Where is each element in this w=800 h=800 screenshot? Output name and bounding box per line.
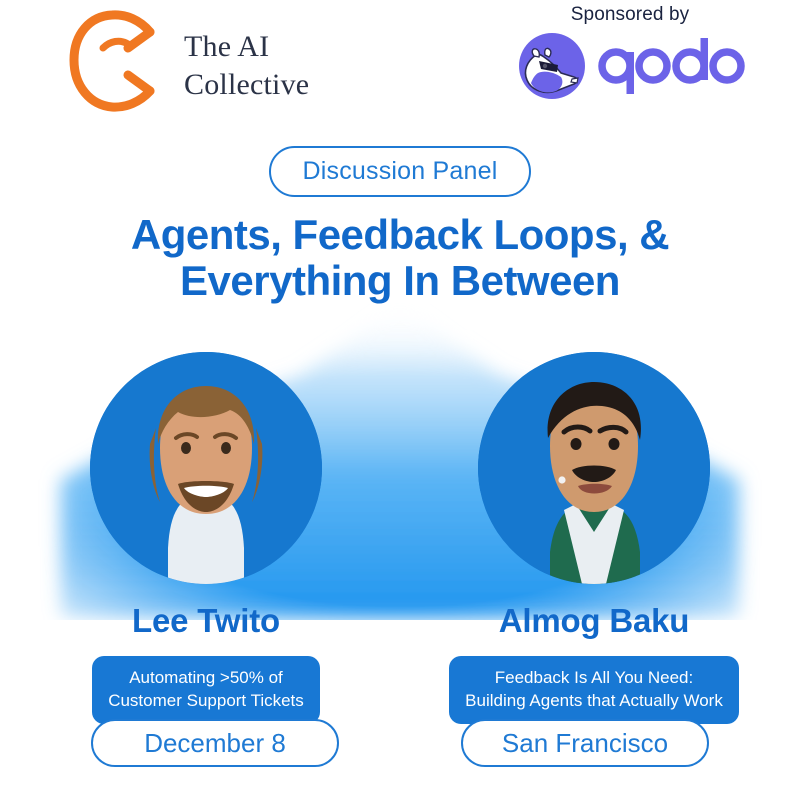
speaker-list: Lee Twito Automating >50% of Customer Su…: [0, 352, 800, 724]
speaker-photo-lee-twito: [90, 352, 322, 584]
speaker-name: Lee Twito: [51, 602, 361, 640]
brand-lockup: The AI Collective: [62, 8, 309, 118]
avatar-illustration: [478, 352, 710, 584]
qodo-badger-mascot-icon: [514, 28, 590, 104]
speaker-photo-almog-baku: [478, 352, 710, 584]
speaker-talk-badge: Automating >50% of Customer Support Tick…: [92, 656, 320, 724]
sponsored-by-label: Sponsored by: [500, 4, 760, 26]
brand-name: The AI Collective: [184, 22, 309, 104]
panel-type-badge: Discussion Panel: [269, 146, 531, 197]
sponsor-logo-lockup: [500, 28, 760, 104]
sponsor-block: Sponsored by: [500, 4, 760, 104]
speaker-card: Almog Baku Feedback Is All You Need: Bui…: [439, 352, 749, 724]
panel-tag-container: Discussion Panel: [0, 146, 800, 197]
poster-header: The AI Collective Sponsored by: [0, 0, 800, 130]
event-details: December 8 San Francisco: [0, 719, 800, 767]
speaker-talk-badge: Feedback Is All You Need: Building Agent…: [449, 656, 739, 724]
speaker-name: Almog Baku: [439, 602, 749, 640]
qodo-wordmark: [596, 35, 746, 97]
event-poster: The AI Collective Sponsored by: [0, 0, 800, 800]
event-title: Agents, Feedback Loops, & Everything In …: [0, 212, 800, 304]
avatar-illustration: [90, 352, 322, 584]
ai-collective-c-logo-icon: [62, 8, 170, 118]
event-date-badge: December 8: [91, 719, 339, 767]
event-location-badge: San Francisco: [461, 719, 709, 767]
speaker-card: Lee Twito Automating >50% of Customer Su…: [51, 352, 361, 724]
